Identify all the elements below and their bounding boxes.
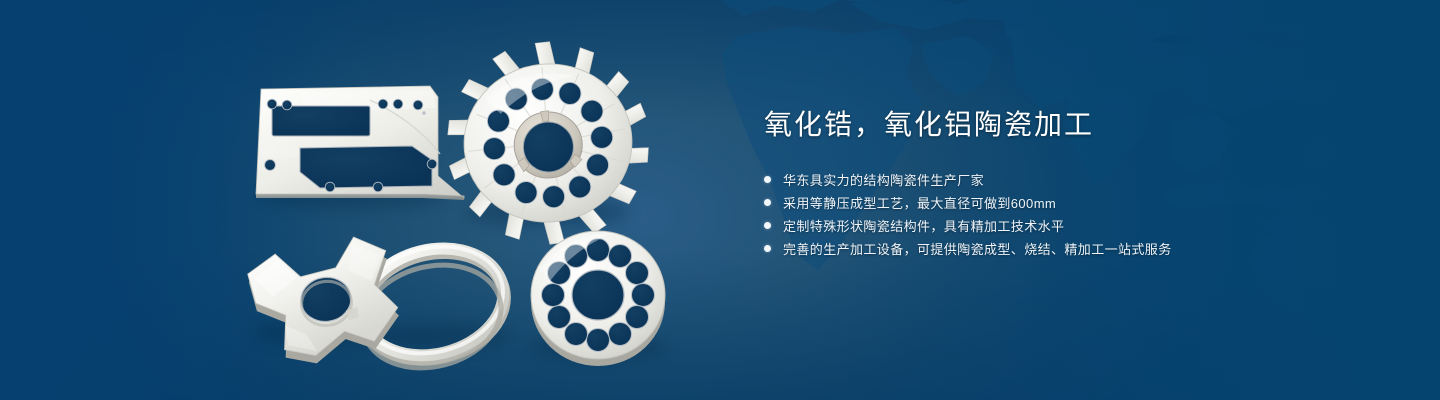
list-item: 采用等静压成型工艺，最大直径可做到600mm	[764, 191, 1384, 214]
ceramic-products-image	[0, 0, 760, 400]
list-item-label: 华东具实力的结构陶瓷件生产厂家	[783, 170, 984, 189]
list-item: 定制特殊形状陶瓷结构件，具有精加工技术水平	[764, 214, 1384, 237]
bullet-dot-icon	[764, 176, 771, 183]
list-item-label: 定制特殊形状陶瓷结构件，具有精加工技术水平	[783, 216, 1064, 235]
ceramic-perforated-disc-part	[531, 231, 665, 366]
feature-list: 华东具实力的结构陶瓷件生产厂家 采用等静压成型工艺，最大直径可做到600mm 定…	[764, 168, 1384, 260]
bullet-dot-icon	[764, 222, 771, 229]
ceramic-plate-part	[256, 86, 464, 200]
banner-copy: 氧化锆，氧化铝陶瓷加工 华东具实力的结构陶瓷件生产厂家 采用等静压成型工艺，最大…	[764, 108, 1384, 260]
bullet-dot-icon	[764, 245, 771, 252]
list-item: 完善的生产加工设备，可提供陶瓷成型、烧结、精加工一站式服务	[764, 237, 1384, 260]
bullet-dot-icon	[764, 199, 771, 206]
ceramic-impeller-part	[435, 28, 661, 257]
list-item: 华东具实力的结构陶瓷件生产厂家	[764, 168, 1384, 191]
list-item-label: 采用等静压成型工艺，最大直径可做到600mm	[783, 193, 1056, 212]
hero-banner: 氧化锆，氧化铝陶瓷加工 华东具实力的结构陶瓷件生产厂家 采用等静压成型工艺，最大…	[0, 0, 1440, 400]
list-item-label: 完善的生产加工设备，可提供陶瓷成型、烧结、精加工一站式服务	[783, 239, 1172, 258]
page-title: 氧化锆，氧化铝陶瓷加工	[764, 108, 1384, 142]
